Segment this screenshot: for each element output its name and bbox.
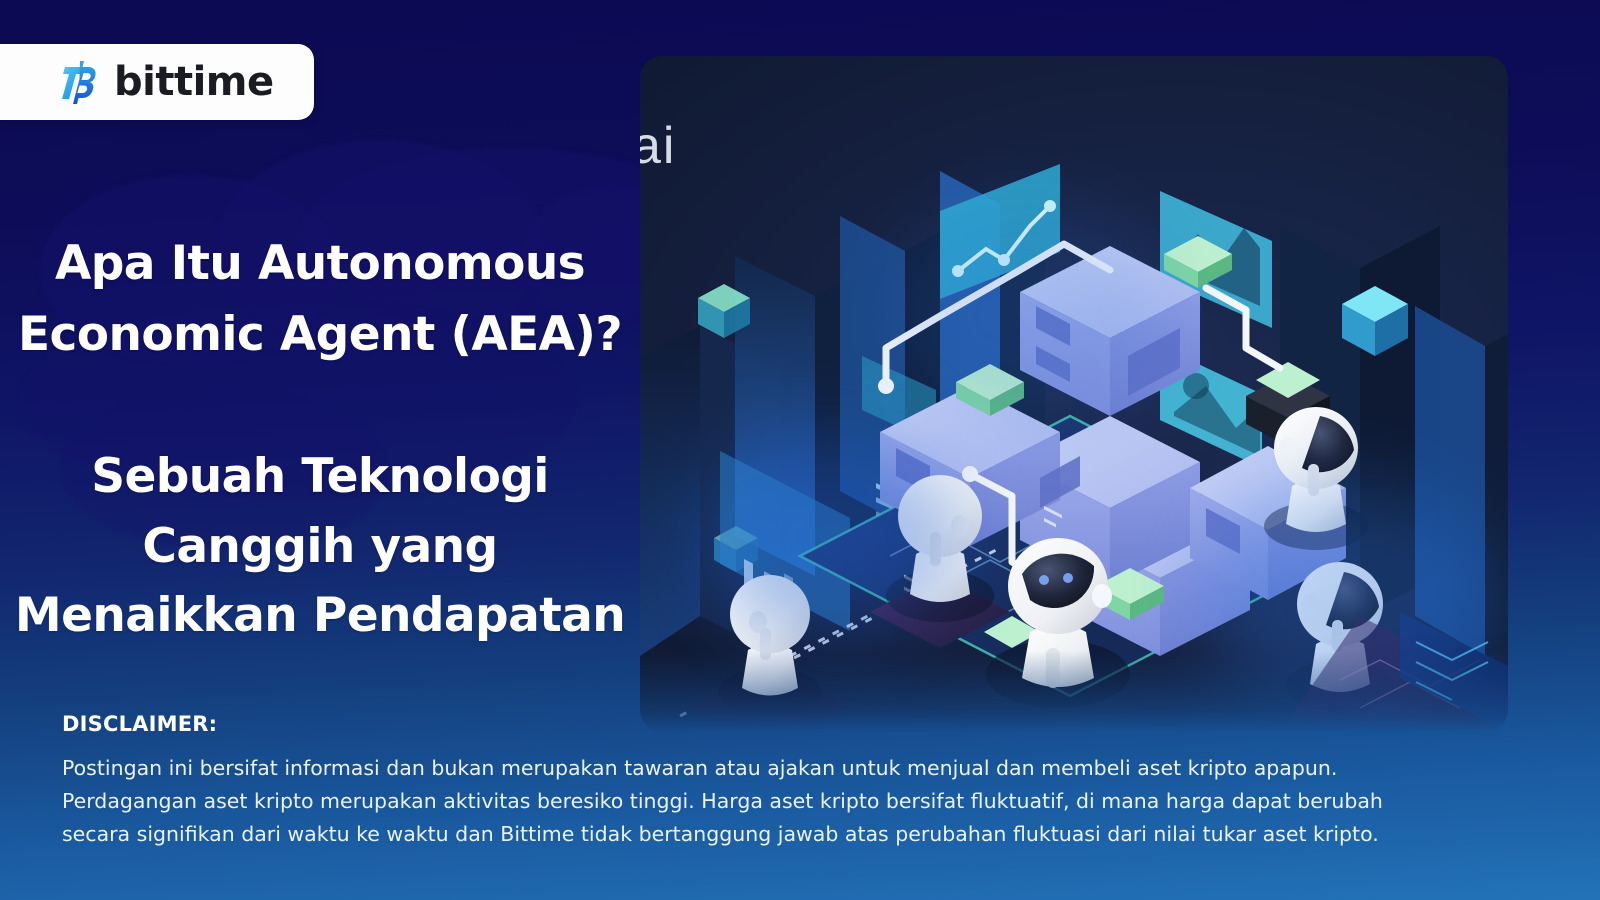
disclaimer-title: DISCLAIMER: [62,712,217,736]
social-media-card: bittime Apa Itu Autonomous Economic Agen… [0,0,1600,900]
bittime-b-logo-icon [60,59,102,105]
brand-logo-badge[interactable]: bittime [0,44,314,120]
illustration-caption: ai [640,116,676,176]
disclaimer-line: Perdagangan aset kripto merupakan aktivi… [62,785,1482,818]
subheadline-line-3: Menaikkan Pendapatan [15,588,625,643]
subheadline-line-1: Sebuah Teknologi [91,449,549,504]
disclaimer-line: secara signifikan dari waktu ke waktu da… [62,818,1482,851]
subheadline: Sebuah Teknologi Canggih yang Menaikkan … [0,442,640,651]
hero-illustration: ai [640,56,1508,732]
subheadline-line-2: Canggih yang [142,519,497,574]
headline-line-1: Apa Itu Autonomous [0,228,640,299]
disclaimer-body: Postingan ini bersifat informasi dan buk… [62,752,1482,852]
headline: Apa Itu Autonomous Economic Agent (AEA)? [0,228,640,371]
disclaimer-line: Postingan ini bersifat informasi dan buk… [62,752,1482,785]
brand-name: bittime [114,59,274,105]
isometric-scene [640,56,1508,732]
headline-line-2: Economic Agent (AEA)? [0,299,640,370]
